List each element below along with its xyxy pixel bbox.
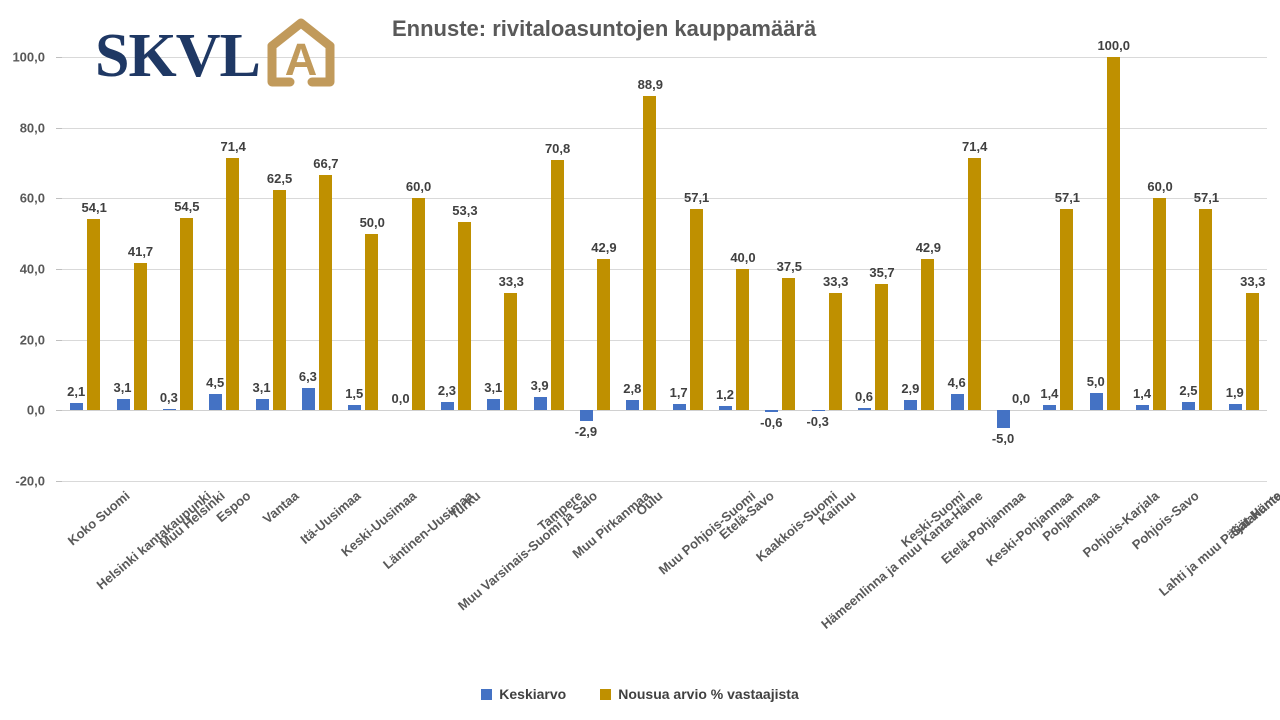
x-axis-label-cell: Turku [433, 484, 479, 654]
bar-group: 4,671,4 [943, 57, 989, 481]
x-axis-label-cell: Keski-Suomi [896, 484, 942, 654]
bar-group: 0,635,7 [850, 57, 896, 481]
bar-keskiarvo [348, 405, 361, 410]
skvl-logo: SKVL A [95, 14, 340, 97]
data-label: -0,3 [796, 414, 840, 429]
y-axis-tick-label: -20,0 [0, 474, 45, 489]
x-axis-label-cell: Espoo [201, 484, 247, 654]
x-axis-label-cell: Muu Varsinais-Suomi ja Salo [479, 484, 525, 654]
bar-nousua-arvio-vastaajista [921, 259, 934, 411]
x-axis-label-cell: Pohjanmaa [1035, 484, 1081, 654]
x-axis-label-cell: Läntinen-Uusimaa [386, 484, 432, 654]
bar-keskiarvo [951, 394, 964, 410]
bar-keskiarvo [117, 399, 130, 410]
bar-group: -0,333,3 [804, 57, 850, 481]
y-axis-tick-label: 0,0 [0, 403, 45, 418]
bar-group: 6,366,7 [294, 57, 340, 481]
bar-group: 2,557,1 [1174, 57, 1220, 481]
bar-keskiarvo [1136, 405, 1149, 410]
bar-nousua-arvio-vastaajista [1060, 209, 1073, 411]
x-axis-label: Turku [447, 488, 484, 522]
bar-group: 3,162,5 [247, 57, 293, 481]
chart-plot: 100,080,060,040,020,00,0-20,0 2,154,13,1… [0, 0, 1280, 720]
bar-nousua-arvio-vastaajista [134, 263, 147, 410]
gridline [62, 481, 1267, 482]
bar-keskiarvo [487, 399, 500, 410]
bar-nousua-arvio-vastaajista [1107, 57, 1120, 410]
bar-group: 1,550,0 [340, 57, 386, 481]
bar-nousua-arvio-vastaajista [782, 278, 795, 411]
y-axis-tick-label: 20,0 [0, 332, 45, 347]
bar-group: 0,060,0 [386, 57, 432, 481]
y-axis-tick-label: 80,0 [0, 120, 45, 135]
bar-group: 2,353,3 [433, 57, 479, 481]
chart-title: Ennuste: rivitaloasuntojen kauppamäärä [392, 16, 816, 42]
bar-nousua-arvio-vastaajista [412, 198, 425, 410]
bar-group: 2,942,9 [896, 57, 942, 481]
bar-group: 4,571,4 [201, 57, 247, 481]
x-axis-label-cell: Muu Pohjois-Suomi [664, 484, 710, 654]
bar-nousua-arvio-vastaajista [365, 234, 378, 411]
bar-nousua-arvio-vastaajista [458, 222, 471, 410]
bar-keskiarvo [765, 410, 778, 412]
bar-nousua-arvio-vastaajista [968, 158, 981, 410]
bar-group: 1,457,1 [1035, 57, 1081, 481]
bar-keskiarvo [904, 400, 917, 410]
bar-keskiarvo [997, 410, 1010, 428]
bar-nousua-arvio-vastaajista [504, 293, 517, 411]
bar-keskiarvo [163, 409, 176, 410]
bar-group: -2,942,9 [572, 57, 618, 481]
bar-nousua-arvio-vastaajista [829, 293, 842, 411]
bar-nousua-arvio-vastaajista [690, 209, 703, 411]
svg-text:A: A [285, 34, 318, 85]
x-axis-label: Oulu [633, 488, 665, 519]
bar-group: 1,933,3 [1221, 57, 1267, 481]
x-axis-label-cell: Keski-Pohjanmaa [989, 484, 1035, 654]
bar-nousua-arvio-vastaajista [1153, 198, 1166, 410]
data-label: 33,3 [1231, 274, 1275, 289]
x-axis-label-cell: Tampere [525, 484, 571, 654]
x-axis-label-cell: Satakunta [1221, 484, 1267, 654]
chart-header: SKVL A Ennuste: rivitaloasuntojen kauppa… [0, 0, 1280, 100]
bar-nousua-arvio-vastaajista [1199, 209, 1212, 411]
bar-keskiarvo [580, 410, 593, 420]
bar-nousua-arvio-vastaajista [1246, 293, 1259, 411]
x-axis-label-cell: Etelä-Pohjanmaa [943, 484, 989, 654]
bar-nousua-arvio-vastaajista [551, 160, 564, 410]
y-axis-tick-mark [56, 481, 62, 482]
data-label: -2,9 [564, 424, 608, 439]
x-axis-label-cell: Hämeenlinna ja muu Kanta-Häme [850, 484, 896, 654]
data-label: -5,0 [981, 431, 1025, 446]
bar-nousua-arvio-vastaajista [643, 96, 656, 410]
bar-nousua-arvio-vastaajista [180, 218, 193, 411]
bar-group: 3,133,3 [479, 57, 525, 481]
bar-keskiarvo [534, 397, 547, 411]
bar-keskiarvo [1229, 404, 1242, 411]
logo-wordmark: SKVL [95, 25, 260, 87]
bar-nousua-arvio-vastaajista [875, 284, 888, 410]
bar-keskiarvo [256, 399, 269, 410]
bar-nousua-arvio-vastaajista [736, 269, 749, 410]
legend-label: Keskiarvo [499, 686, 566, 702]
bar-keskiarvo [302, 388, 315, 410]
bar-keskiarvo [209, 394, 222, 410]
x-axis-label-cell: Itä-Uusimaa [294, 484, 340, 654]
x-axis-label: Satakunta [1227, 488, 1280, 539]
bar-group: 1,757,1 [664, 57, 710, 481]
x-axis-label-cell: Koko Suomi [62, 484, 108, 654]
legend-item[interactable]: Keskiarvo [481, 686, 566, 702]
bar-keskiarvo [441, 402, 454, 410]
x-axis-label-cell: Lahti ja muu Päijät-Häme [1174, 484, 1220, 654]
legend-item[interactable]: Nousua arvio % vastaajista [600, 686, 799, 702]
x-axis-label-cell: Pohjois-Karjala [1082, 484, 1128, 654]
legend-swatch-icon [481, 689, 492, 700]
bar-keskiarvo [70, 403, 83, 410]
x-axis-labels: Koko SuomiHelsinki kantakaupunkiMuu Hels… [62, 484, 1267, 654]
bar-keskiarvo [1182, 402, 1195, 411]
legend-label: Nousua arvio % vastaajista [618, 686, 799, 702]
chart-legend: KeskiarvoNousua arvio % vastaajista [0, 686, 1280, 702]
y-axis-tick-label: 40,0 [0, 262, 45, 277]
bar-nousua-arvio-vastaajista [87, 219, 100, 410]
x-axis-label-cell: Helsinki kantakaupunki [108, 484, 154, 654]
bar-keskiarvo [1090, 393, 1103, 411]
bar-keskiarvo [626, 400, 639, 410]
bar-keskiarvo [858, 408, 871, 410]
bar-keskiarvo [1043, 405, 1056, 410]
bar-group: -5,00,0 [989, 57, 1035, 481]
bar-nousua-arvio-vastaajista [319, 175, 332, 411]
bar-group: 2,154,1 [62, 57, 108, 481]
bar-group: 3,970,8 [525, 57, 571, 481]
bar-group: 2,888,9 [618, 57, 664, 481]
bar-groups: 2,154,13,141,70,354,54,571,43,162,56,366… [62, 57, 1267, 481]
house-a-icon: A [262, 16, 340, 97]
bar-nousua-arvio-vastaajista [597, 259, 610, 411]
data-label: -0,6 [749, 415, 793, 430]
bar-keskiarvo [673, 404, 686, 410]
bar-keskiarvo [812, 410, 825, 411]
bar-nousua-arvio-vastaajista [273, 190, 286, 411]
bar-group: 1,460,0 [1128, 57, 1174, 481]
bar-keskiarvo [719, 406, 732, 410]
x-axis-label-cell: Kaakkois-Suomi [757, 484, 803, 654]
x-axis-label-cell: Muu Helsinki [155, 484, 201, 654]
x-axis-label-cell: Etelä-Savo [711, 484, 757, 654]
bar-group: 5,0100,0 [1082, 57, 1128, 481]
bar-group: 0,354,5 [155, 57, 201, 481]
x-axis-label-cell: Vantaa [247, 484, 293, 654]
legend-swatch-icon [600, 689, 611, 700]
x-axis-label-cell: Keski-Uusimaa [340, 484, 386, 654]
bar-nousua-arvio-vastaajista [226, 158, 239, 410]
x-axis-label-cell: Muu Pirkanmaa [572, 484, 618, 654]
x-axis-label-cell: Pohjois-Savo [1128, 484, 1174, 654]
bar-group: 3,141,7 [108, 57, 154, 481]
y-axis-tick-label: 60,0 [0, 191, 45, 206]
